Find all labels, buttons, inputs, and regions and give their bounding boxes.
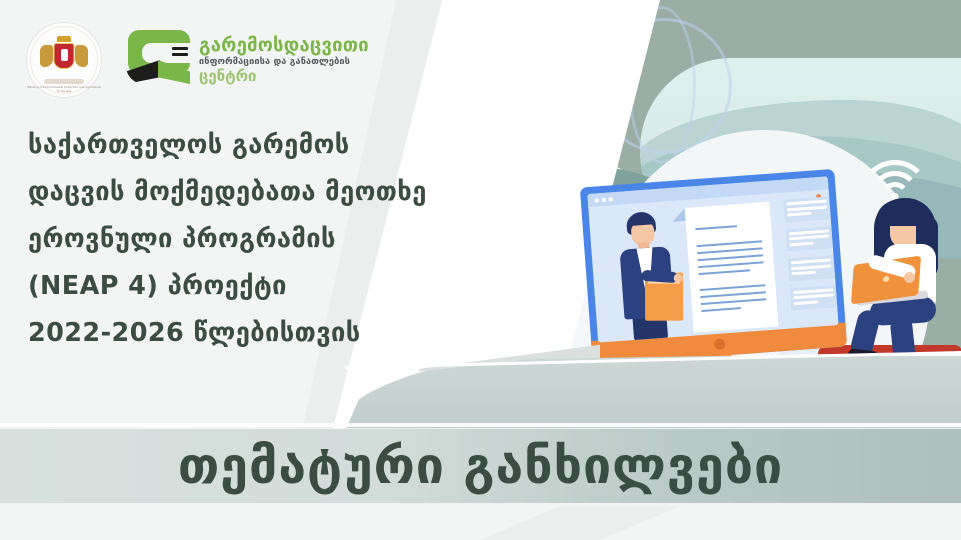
logo-row: Ministry of Environmental Protection and… [26, 22, 369, 98]
list-item [790, 285, 838, 311]
lion-supporter-icon [75, 45, 88, 67]
desktop-monitor [580, 169, 847, 365]
coat-of-arms-of-georgia-icon: Ministry of Environmental Protection and… [26, 22, 102, 98]
window-dot-icon [602, 198, 606, 202]
man-holding-folder [613, 210, 684, 338]
org-name-line2: ინფორმაციისა და განათლების [199, 56, 369, 68]
crown-icon [57, 36, 71, 42]
org-name-line1: გარემოსდაცვითი [199, 36, 369, 56]
title-line: (NEAP 4) პროექტი [28, 263, 498, 310]
hand [904, 272, 915, 283]
presentation-slide: Ministry of Environmental Protection and… [0, 0, 961, 540]
page-fold-icon [672, 208, 686, 222]
page-title: საქართველოს გარემოს დაცვის მოქმედებათა მ… [28, 122, 498, 357]
shield-icon [54, 43, 75, 69]
footer-diagonal-shade [480, 506, 680, 540]
ribbon [44, 79, 84, 84]
title-line: ეროვნული პროგრამის [28, 216, 498, 263]
title-line: საქართველოს გარემოს [28, 122, 498, 169]
lion-supporter-icon [40, 45, 53, 67]
bottom-banner: თემატური განხილვები [0, 428, 961, 504]
org-logo-text: გარემოსდაცვითი ინფორმაციისა და განათლები… [199, 36, 369, 85]
list-item [783, 196, 831, 222]
title-line: 2022-2026 წლებისთვის [28, 310, 498, 357]
list-item [785, 226, 833, 252]
ministry-caption: Ministry of Environmental Protection and… [27, 86, 101, 93]
banner-footer-strip [0, 506, 961, 540]
sidebar-cards [783, 197, 832, 318]
document-page [685, 202, 779, 333]
banner-title: თემატური განხილვები [178, 438, 783, 494]
window-dot-icon [595, 198, 599, 202]
list-item [788, 255, 836, 281]
window-dot-icon [609, 197, 613, 201]
woman-with-laptop [848, 198, 961, 373]
banner-top-highlight [0, 423, 961, 427]
title-line: დაცვის მოქმედებათა მეოთხე [28, 169, 498, 216]
monitor-screen [587, 176, 838, 342]
org-name-line3: ცენტრი [199, 68, 369, 85]
org-logo: გარემოსდაცვითი ინფორმაციისა და განათლები… [128, 30, 369, 90]
open-book-logo-icon [128, 30, 190, 90]
arm [641, 270, 678, 283]
